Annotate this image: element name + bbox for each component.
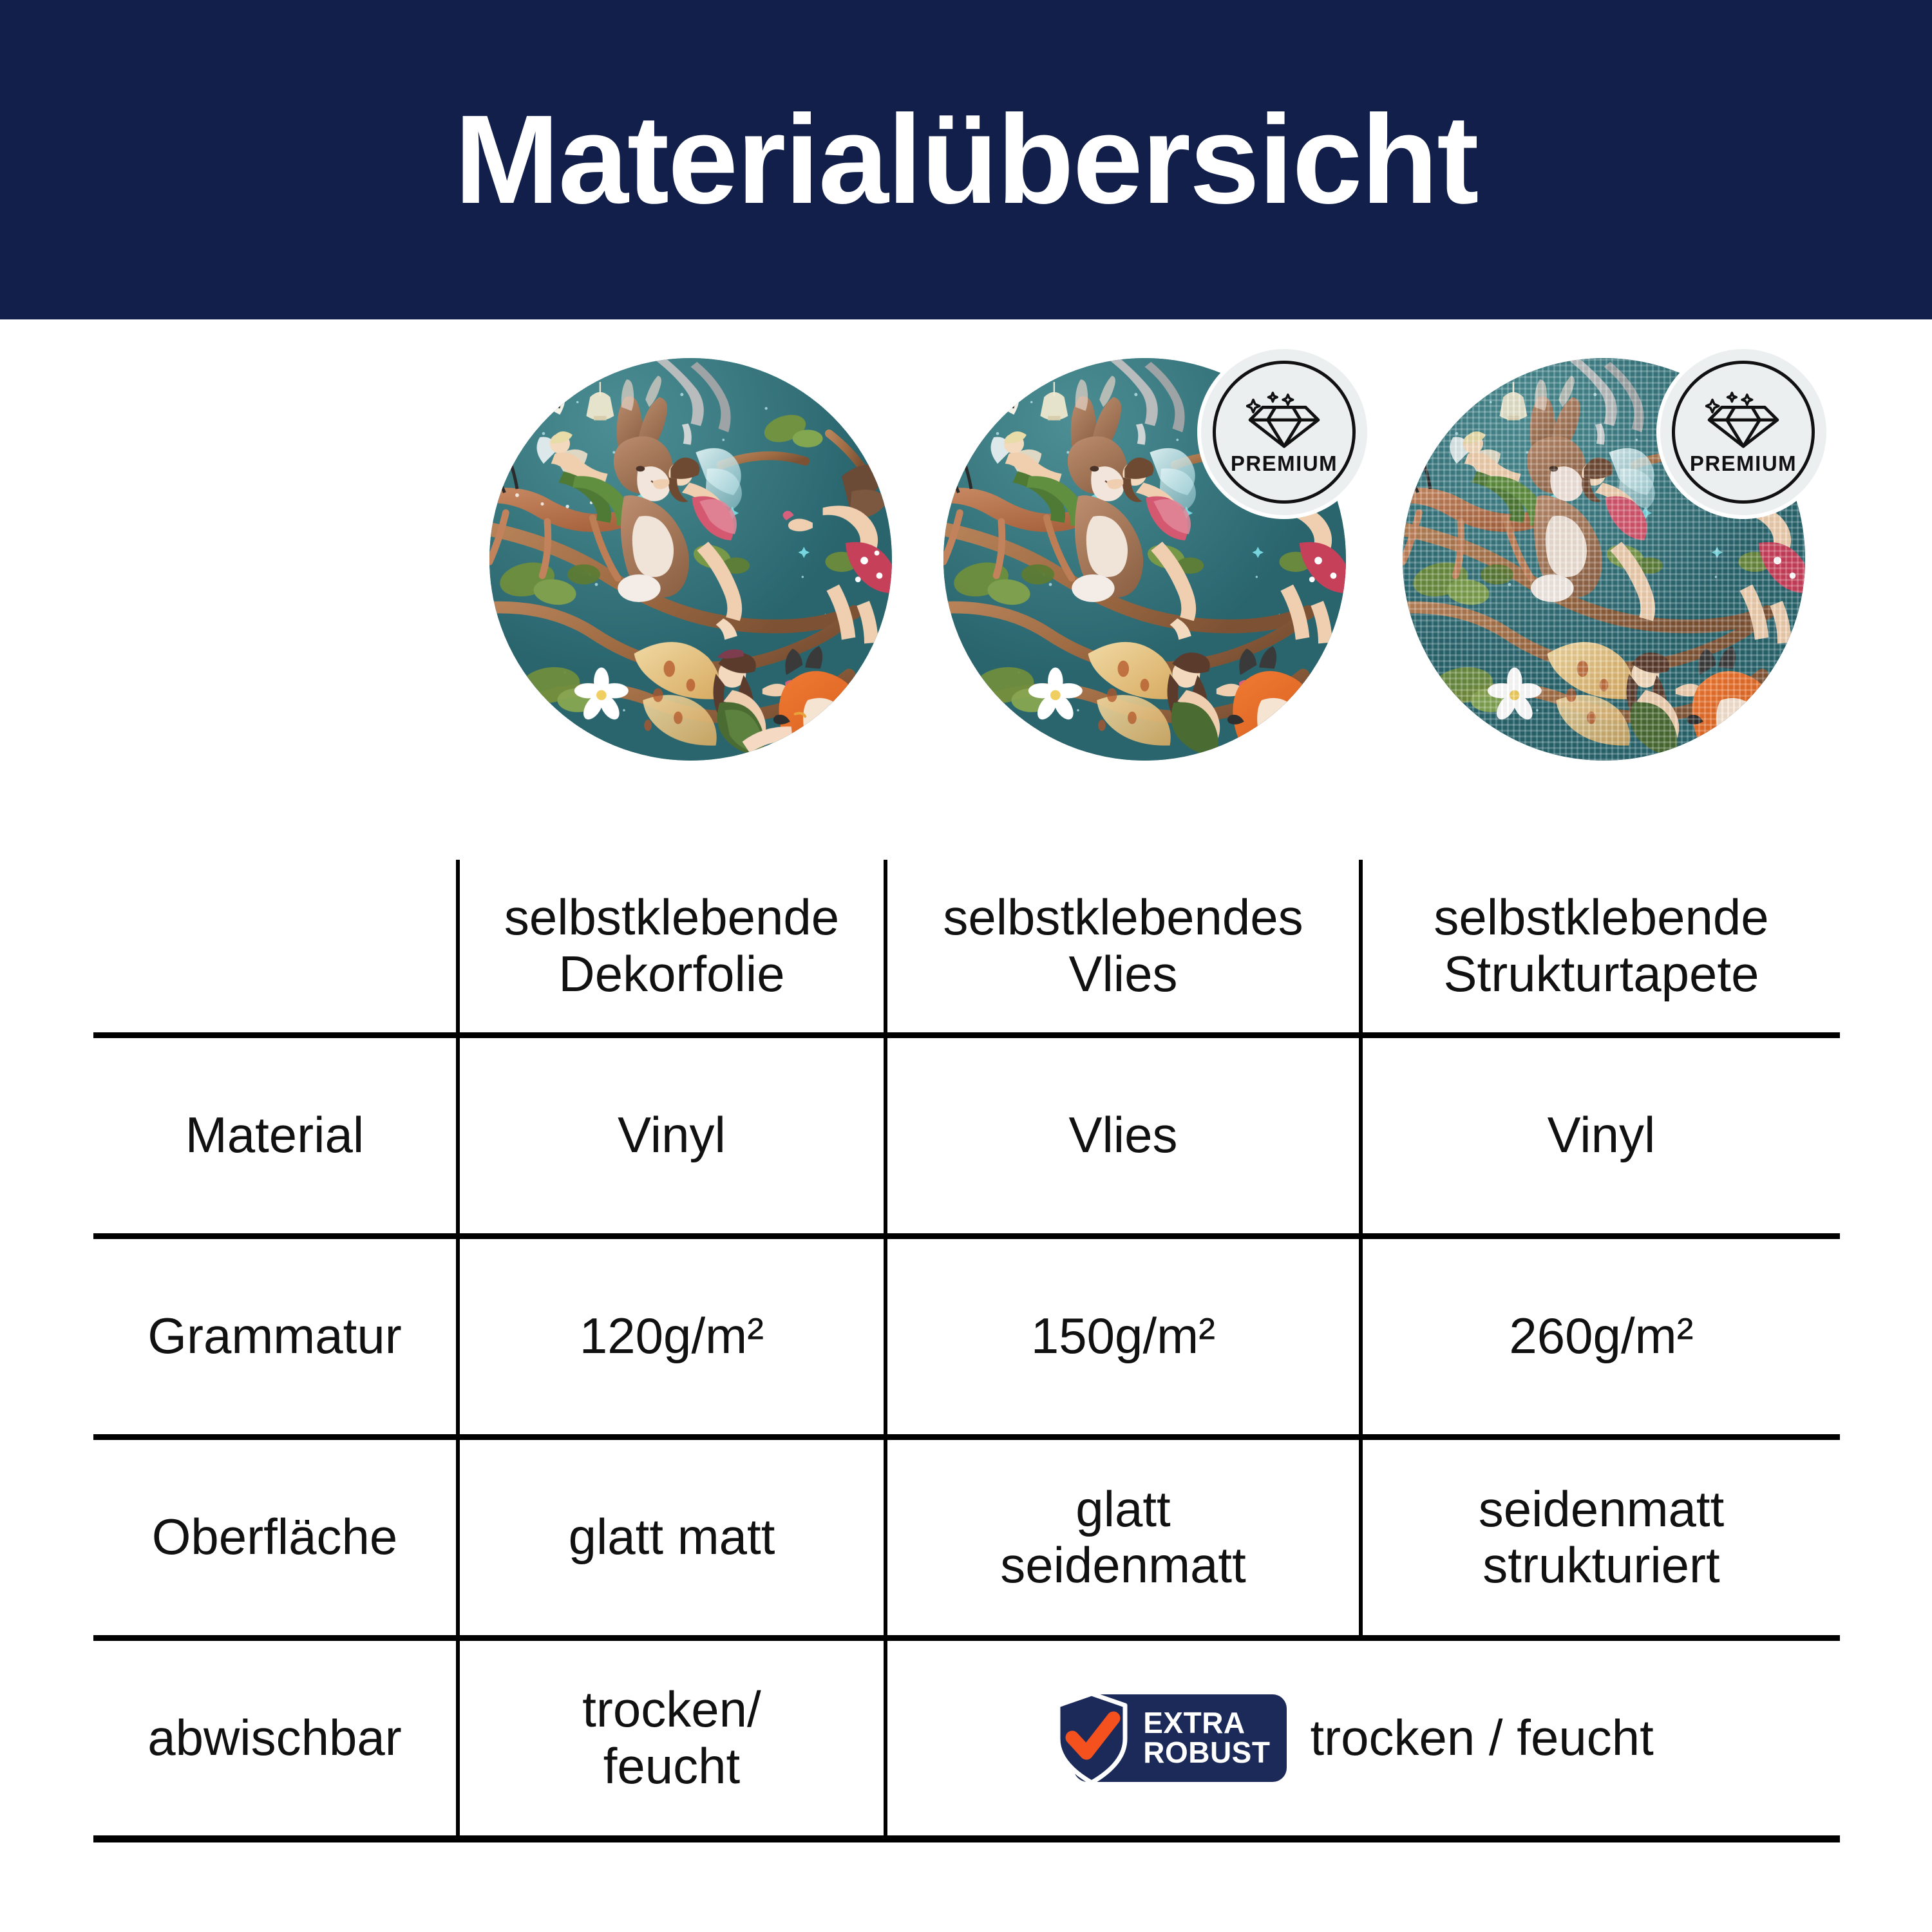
row-label-material: Material [93, 1035, 458, 1236]
cell-abwischbar-merged: EXTRA ROBUST trocken / feucht [885, 1638, 1840, 1839]
cell-oberflaeche-strukturtapete: seidenmatt strukturiert [1361, 1437, 1840, 1638]
robust-line2: ROBUST [1143, 1738, 1270, 1767]
premium-badge-label: PREMIUM [1231, 453, 1338, 474]
cell-abwischbar-dekorfolie: trocken/ feucht [458, 1638, 885, 1839]
cell-line1: trocken/ [468, 1681, 876, 1738]
cell-grammatur-strukturtapete: 260g/m² [1361, 1236, 1840, 1437]
row-label-oberflaeche: Oberfläche [93, 1437, 458, 1638]
fairy-forest-illustration [489, 358, 892, 761]
cell-oberflaeche-vlies: glatt seidenmatt [885, 1437, 1361, 1638]
column-header-line2: Dekorfolie [468, 946, 876, 1002]
column-header-dekorfolie: selbstklebende Dekorfolie [458, 860, 885, 1035]
cell-line2: strukturiert [1370, 1537, 1832, 1593]
robust-cell-content: EXTRA ROBUST trocken / feucht [895, 1694, 1832, 1782]
cell-line2: feucht [468, 1738, 876, 1794]
premium-badge-label: PREMIUM [1690, 453, 1797, 474]
cell-oberflaeche-dekorfolie: glatt matt [458, 1437, 885, 1638]
premium-badge: PREMIUM [1660, 349, 1826, 515]
swatch-item-strukturtapete[interactable]: PREMIUM [1403, 353, 1815, 765]
cell-line1: glatt [895, 1481, 1351, 1537]
cell-material-dekorfolie: Vinyl [458, 1035, 885, 1236]
table-row-material: Material Vinyl Vlies Vinyl [93, 1035, 1840, 1236]
table-row-abwischbar: abwischbar trocken/ feucht EXTRA [93, 1638, 1840, 1839]
shield-check-icon [1052, 1691, 1132, 1785]
cell-grammatur-dekorfolie: 120g/m² [458, 1236, 885, 1437]
swatch-gallery: PREMIUM [0, 353, 1932, 778]
cell-abwischbar-merged-text: trocken / feucht [1310, 1710, 1653, 1766]
cell-material-strukturtapete: Vinyl [1361, 1035, 1840, 1236]
robust-line1: EXTRA [1143, 1709, 1245, 1738]
column-header-line1: selbstklebendes [895, 889, 1351, 945]
column-header-strukturtapete: selbstklebende Strukturtapete [1361, 860, 1840, 1035]
page-title: Materialübersicht [455, 97, 1478, 223]
premium-badge-inner: PREMIUM [1672, 361, 1815, 504]
material-comparison-table: selbstklebende Dekorfolie selbstklebende… [93, 860, 1840, 1842]
cell-line1: seidenmatt [1370, 1481, 1832, 1537]
cell-material-vlies: Vlies [885, 1035, 1361, 1236]
material-overview-page: Materialübersicht [0, 0, 1932, 1932]
column-header-line2: Strukturtapete [1370, 946, 1832, 1002]
page-header: Materialübersicht [0, 0, 1932, 319]
table-header-row: selbstklebende Dekorfolie selbstklebende… [93, 860, 1840, 1035]
extra-robust-badge: EXTRA ROBUST [1074, 1694, 1287, 1782]
cell-line2: seidenmatt [895, 1537, 1351, 1593]
swatch-image-dekorfolie [489, 358, 892, 761]
column-header-line1: selbstklebende [1370, 889, 1832, 945]
diamond-icon [1705, 391, 1781, 450]
extra-robust-text: EXTRA ROBUST [1143, 1709, 1270, 1766]
swatch-item-vlies[interactable]: PREMIUM [943, 353, 1356, 765]
table-row-oberflaeche: Oberfläche glatt matt glatt seidenmatt s… [93, 1437, 1840, 1638]
diamond-icon [1246, 391, 1322, 450]
cell-grammatur-vlies: 150g/m² [885, 1236, 1361, 1437]
premium-badge: PREMIUM [1201, 349, 1367, 515]
swatch-item-dekorfolie[interactable] [489, 353, 902, 765]
column-header-line2: Vlies [895, 946, 1351, 1002]
premium-badge-inner: PREMIUM [1213, 361, 1356, 504]
row-label-grammatur: Grammatur [93, 1236, 458, 1437]
column-header-line1: selbstklebende [468, 889, 876, 945]
column-header-vlies: selbstklebendes Vlies [885, 860, 1361, 1035]
table-row-grammatur: Grammatur 120g/m² 150g/m² 260g/m² [93, 1236, 1840, 1437]
table-corner-cell [93, 860, 458, 1035]
row-label-abwischbar: abwischbar [93, 1638, 458, 1839]
